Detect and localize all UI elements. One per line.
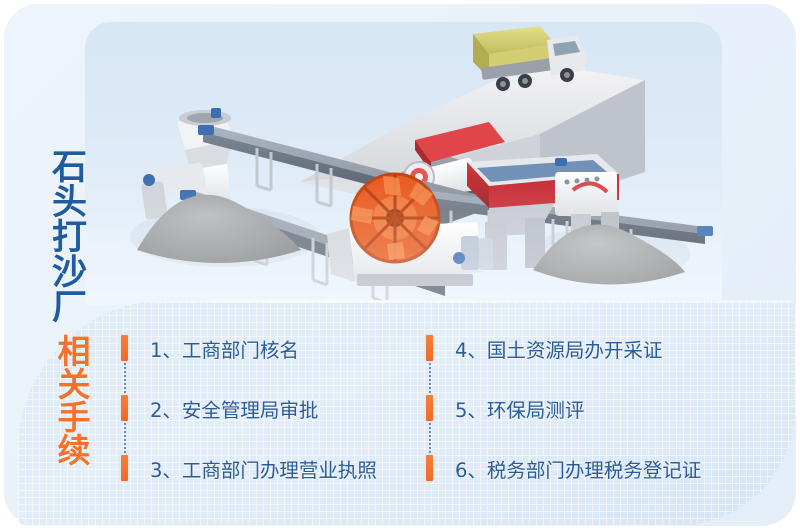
- step-label: 1、工商部门核名: [150, 334, 299, 363]
- vertical-title: 石头打沙厂: [28, 148, 84, 323]
- step-label: 6、税务部门办理税务登记证: [455, 454, 701, 483]
- illustration-panel: [85, 22, 722, 305]
- procedures-column-left: 1、工商部门核名 2、安全管理局审批 3、工商部门办理营业执照: [118, 318, 423, 498]
- infographic-root: 石头打沙厂 相关手续 1、工商部门核名 2、安全管理局审批 3、工商部门办理营业…: [0, 0, 800, 530]
- step-marker-icon: [121, 335, 128, 361]
- vertical-section-label: 相关手续: [42, 334, 88, 466]
- list-item[interactable]: 4、国土资源局办开采证: [423, 318, 728, 378]
- list-item[interactable]: 5、环保局测评: [423, 378, 728, 438]
- step-marker-icon: [426, 455, 433, 481]
- step-label: 5、环保局测评: [455, 394, 584, 423]
- plant-illustration: [85, 22, 722, 305]
- dump-truck: [473, 26, 585, 91]
- list-item[interactable]: 6、税务部门办理税务登记证: [423, 438, 728, 498]
- step-marker-icon: [121, 455, 128, 481]
- step-label: 3、工商部门办理营业执照: [150, 454, 377, 483]
- list-item[interactable]: 3、工商部门办理营业执照: [118, 438, 423, 498]
- step-marker-icon: [426, 335, 433, 361]
- list-item[interactable]: 2、安全管理局审批: [118, 378, 423, 438]
- step-label: 4、国土资源局办开采证: [455, 334, 662, 363]
- procedures-columns: 1、工商部门核名 2、安全管理局审批 3、工商部门办理营业执照 4、国土资源局办…: [118, 318, 758, 498]
- step-label: 2、安全管理局审批: [150, 394, 318, 423]
- step-marker-icon: [426, 395, 433, 421]
- list-item[interactable]: 1、工商部门核名: [118, 318, 423, 378]
- procedures-column-right: 4、国土资源局办开采证 5、环保局测评 6、税务部门办理税务登记证: [423, 318, 728, 498]
- step-marker-icon: [121, 395, 128, 421]
